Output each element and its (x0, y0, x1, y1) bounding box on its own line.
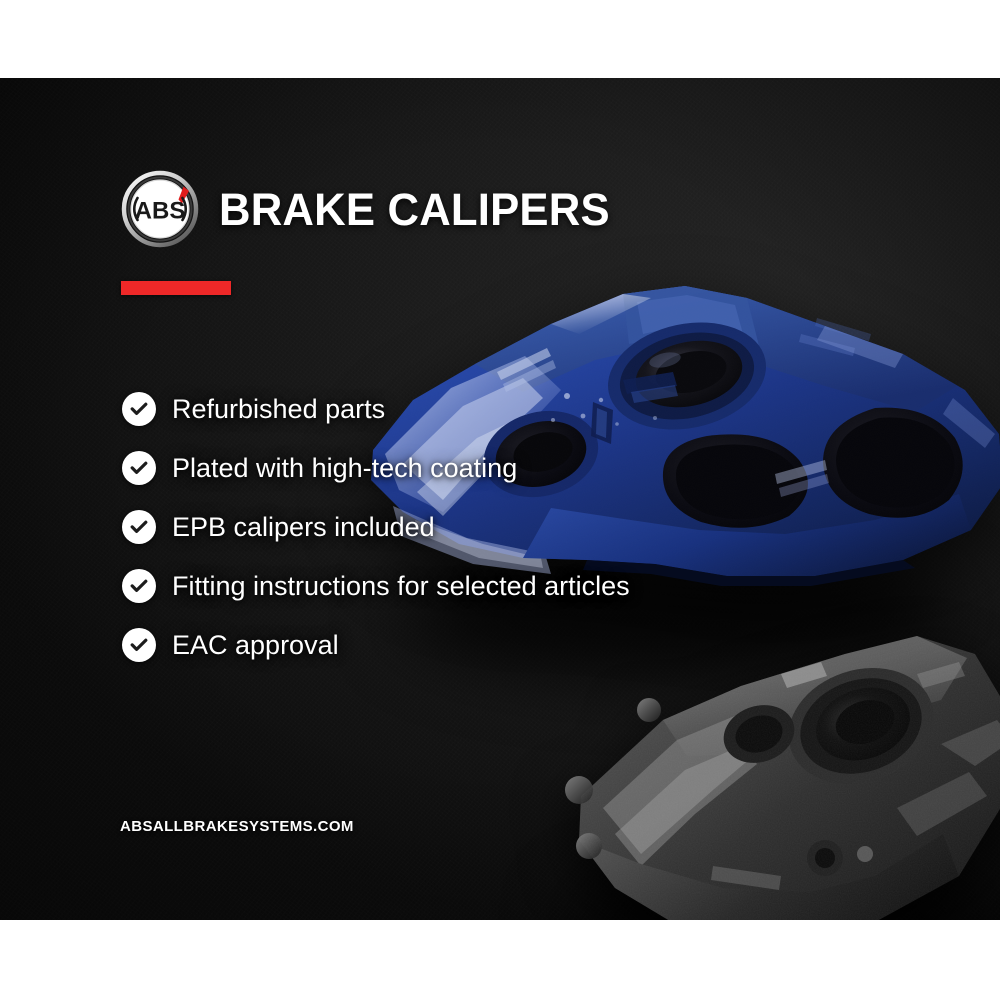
accent-bar (121, 281, 231, 295)
footer-website-url[interactable]: ABSALLBRAKESYSTEMS.COM (120, 818, 354, 835)
feature-list: Refurbished parts Plated with high-tech … (122, 391, 630, 663)
check-circle-icon (122, 451, 156, 485)
banner: ABS BRAKE CALIPERS Refurbished parts (0, 78, 1000, 920)
feature-item: EAC approval (122, 627, 630, 663)
product-banner-page: ABS BRAKE CALIPERS Refurbished parts (0, 0, 1000, 1000)
header: ABS BRAKE CALIPERS (121, 170, 622, 248)
feature-label: Plated with high-tech coating (172, 455, 517, 482)
page-title: BRAKE CALIPERS (219, 187, 610, 232)
feature-item: Refurbished parts (122, 391, 630, 427)
feature-item: Plated with high-tech coating (122, 450, 630, 486)
abs-roundel-logo: ABS (121, 170, 199, 248)
feature-item: EPB calipers included (122, 509, 630, 545)
check-circle-icon (122, 628, 156, 662)
feature-label: Refurbished parts (172, 396, 385, 423)
abs-logo-text: ABS (135, 198, 186, 225)
check-circle-icon (122, 569, 156, 603)
feature-item: Fitting instructions for selected articl… (122, 568, 630, 604)
check-circle-icon (122, 392, 156, 426)
feature-label: EPB calipers included (172, 514, 435, 541)
feature-label: EAC approval (172, 632, 339, 659)
feature-label: Fitting instructions for selected articl… (172, 573, 630, 600)
check-circle-icon (122, 510, 156, 544)
